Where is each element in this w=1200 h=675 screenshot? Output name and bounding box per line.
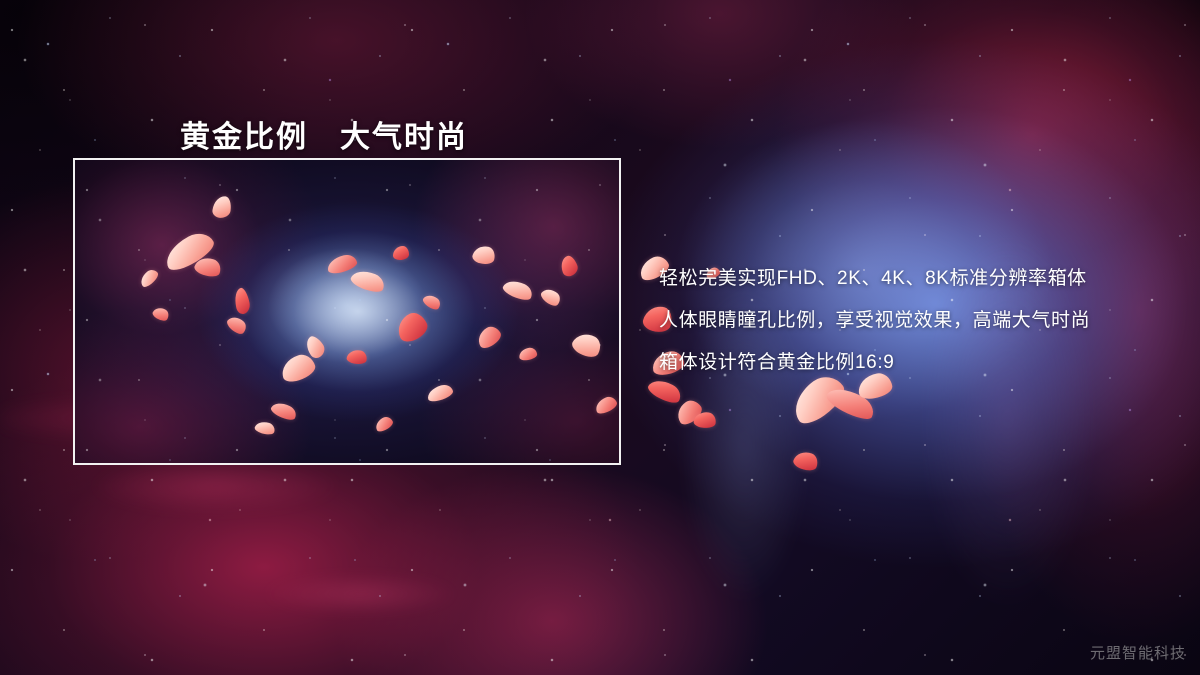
page-title: 黄金比例 大气时尚 [180,121,468,156]
petal [471,244,497,267]
feature-description: 轻松完美实现FHD、2K、4K、8K标准分辨率箱体 人体眼睛瞳孔比例，享受视觉效… [659,258,1169,384]
petal [393,246,409,260]
petal [501,277,535,304]
petal [346,348,368,365]
petal [212,195,233,219]
description-line: 轻松完美实现FHD、2K、4K、8K标准分辨率箱体 [659,258,1169,300]
petal [593,394,619,415]
petal [426,383,455,404]
description-line: 箱体设计符合黄金比例16:9 [659,342,1169,384]
petal [151,305,171,323]
petal [269,399,299,423]
petal [232,287,251,315]
petal [326,253,359,276]
petal [569,329,604,362]
nebula-petal-photo [75,160,619,463]
petal [421,292,443,312]
petal [393,309,431,345]
petal [474,323,504,351]
petal [349,266,387,295]
petal [518,347,537,361]
framed-image-panel [73,158,621,465]
petal [558,254,580,278]
petal [254,419,277,436]
company-watermark: 元盟智能科技 [1090,642,1186,663]
petal [137,267,160,289]
petal [373,415,394,434]
petal [539,285,563,309]
petal [225,313,249,337]
description-line: 人体眼睛瞳孔比例，享受视觉效果，高端大气时尚 [659,300,1169,342]
presentation-slide: 黄金比例 大气时尚 轻松完美实现FHD、2K、4K、8K标准分辨率箱体 人体眼睛… [0,0,1200,675]
